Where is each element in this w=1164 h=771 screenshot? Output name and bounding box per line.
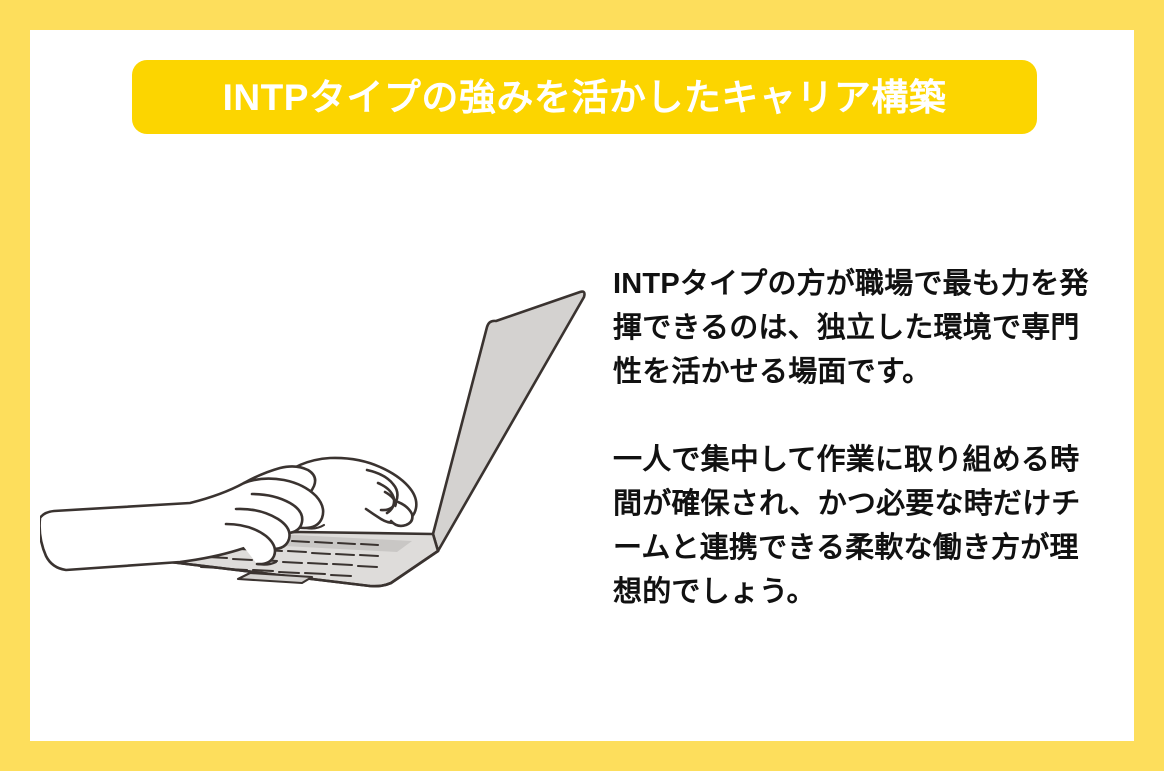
body-copy: INTPタイプの方が職場で最も力を発揮できるのは、独立した環境で専門性を活かせる… xyxy=(613,262,1098,614)
slide-root: INTPタイプの強みを活かしたキャリア構築 xyxy=(0,0,1164,771)
laptop-lid xyxy=(433,292,585,551)
page-title: INTPタイプの強みを活かしたキャリア構築 xyxy=(223,79,947,116)
hands-typing-on-laptop-illustration xyxy=(40,270,610,615)
body-paragraph-1: INTPタイプの方が職場で最も力を発揮できるのは、独立した環境で専門性を活かせる… xyxy=(613,262,1098,394)
title-banner: INTPタイプの強みを活かしたキャリア構築 xyxy=(132,60,1037,134)
body-paragraph-2: 一人で集中して作業に取り組める時間が確保され、かつ必要な時だけチームと連携できる… xyxy=(613,438,1098,614)
content-card: INTPタイプの強みを活かしたキャリア構築 xyxy=(30,30,1134,741)
laptop-line-art-svg xyxy=(40,270,610,615)
